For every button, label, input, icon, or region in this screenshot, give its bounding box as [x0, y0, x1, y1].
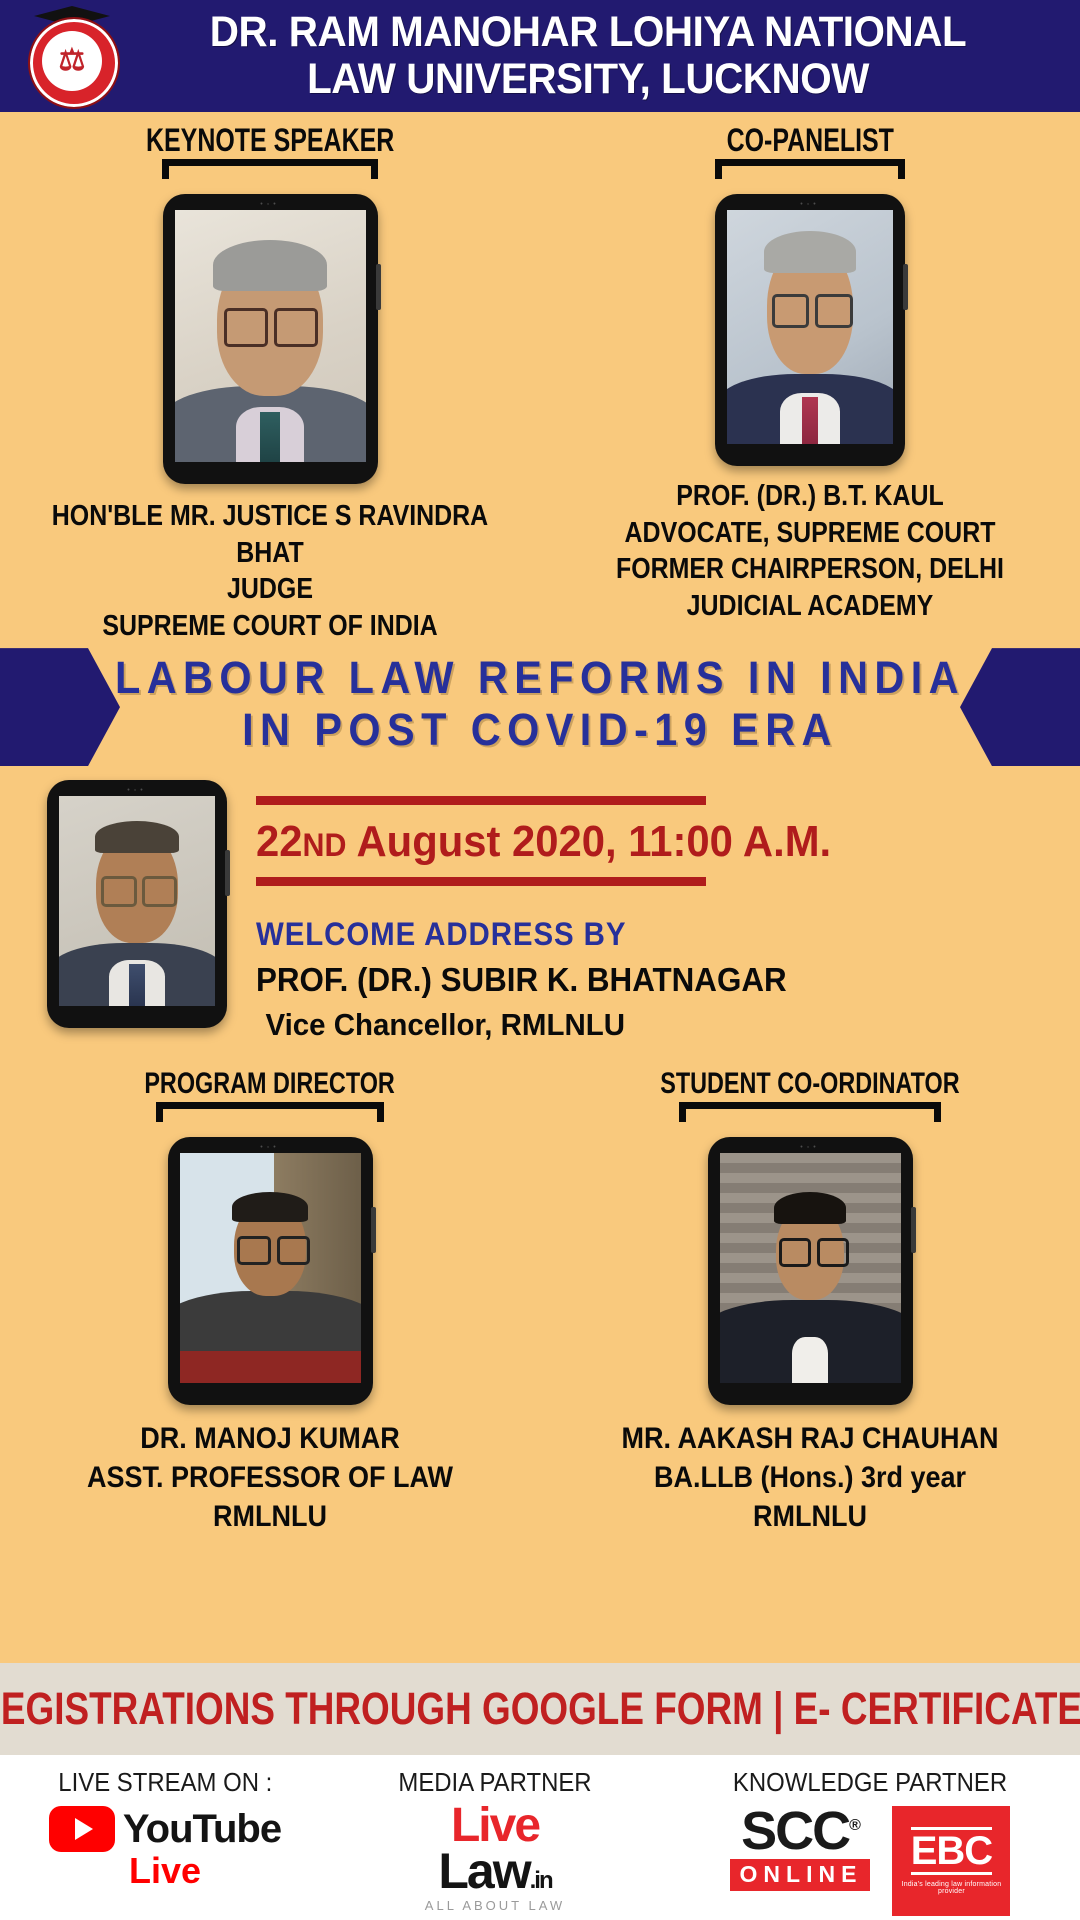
co-panelist-block: CO-PANELIST •▫• — [540, 124, 1080, 644]
registration-band: REGISTRATIONS THROUGH GOOGLE FORM | E- C… — [0, 1663, 1080, 1755]
bracket-underline — [679, 1102, 941, 1129]
live-stream-column: LIVE STREAM ON : YouTube Live — [40, 1767, 290, 1892]
speakers-row: KEYNOTE SPEAKER •▫• — [0, 112, 1080, 644]
co-panelist-role-wrap: CO-PANELIST — [540, 124, 1080, 186]
co-panelist-name-block: PROF. (DR.) B.T. KAUL ADVOCATE, SUPREME … — [540, 478, 1080, 624]
bracket-underline — [156, 1102, 384, 1129]
livelaw-tagline: ALL ABOUT LAW — [370, 1900, 620, 1912]
keynote-speaker-block: KEYNOTE SPEAKER •▫• — [0, 124, 540, 644]
university-name-line1: DR. RAM MANOHAR LOHIYA NATIONAL — [154, 11, 1023, 55]
event-date-ordinal: ND — [303, 827, 347, 863]
keynote-photo — [175, 210, 366, 462]
event-details-text: 22ND August 2020, 11:00 A.M. WELCOME ADD… — [250, 780, 1080, 1043]
youtube-wordmark: YouTube — [123, 1807, 281, 1852]
university-crest-icon: ⚖ — [18, 3, 126, 111]
keynote-speaker-line2: JUDGE — [38, 571, 502, 608]
scc-wordmark: SCC® — [730, 1806, 871, 1857]
co-panelist-photo — [727, 210, 893, 444]
program-director-photo — [180, 1153, 361, 1383]
scc-online-label: ONLINE — [730, 1859, 871, 1891]
event-date-number: 22 — [256, 817, 303, 866]
student-coordinator-block: STUDENT CO-ORDINATOR •▫• — [540, 1069, 1080, 1536]
co-panelist-name: PROF. (DR.) B.T. KAUL — [578, 478, 1042, 515]
event-title-line2: IN POST COVID-19 ERA — [43, 704, 1037, 756]
student-coordinator-line2: BA.LLB (Hons.) 3rd year — [567, 1458, 1053, 1497]
event-details-row: •▫• 22ND August 2 — [0, 766, 1080, 1043]
media-partner-caption: MEDIA PARTNER — [398, 1767, 591, 1798]
livelaw-logo: Live Law.in ALL ABOUT LAW — [370, 1804, 620, 1912]
program-director-name-block: DR. MANOJ KUMAR ASST. PROFESSOR OF LAW R… — [0, 1419, 540, 1536]
student-coordinator-name: MR. AAKASH RAJ CHAUHAN — [567, 1419, 1053, 1458]
vc-photo-frame: •▫• — [47, 780, 227, 1028]
welcome-address-label: WELCOME ADDRESS BY — [256, 916, 1014, 953]
youtube-play-icon — [49, 1806, 115, 1852]
event-title-line1: LABOUR LAW REFORMS IN INDIA — [43, 652, 1037, 704]
program-director-role-wrap: PROGRAM DIRECTOR — [0, 1069, 540, 1129]
livelaw-law-text: Law — [438, 1843, 529, 1899]
program-director-block: PROGRAM DIRECTOR •▫• — [0, 1069, 540, 1536]
event-datetime: 22ND August 2020, 11:00 A.M. — [256, 817, 1039, 867]
program-director-role-label: PROGRAM DIRECTOR — [145, 1069, 395, 1099]
university-name: DR. RAM MANOHAR LOHIYA NATIONAL LAW UNIV… — [126, 11, 1080, 102]
vc-photo — [59, 796, 215, 1006]
poster-footer: LIVE STREAM ON : YouTube Live MEDIA PART… — [0, 1755, 1080, 1920]
event-title: LABOUR LAW REFORMS IN INDIA IN POST COVI… — [0, 652, 1080, 756]
bracket-underline — [162, 159, 378, 186]
student-coordinator-name-block: MR. AAKASH RAJ CHAUHAN BA.LLB (Hons.) 3r… — [540, 1419, 1080, 1536]
co-panelist-role-label: CO-PANELIST — [726, 124, 893, 156]
media-partner-column: MEDIA PARTNER Live Law.in ALL ABOUT LAW — [370, 1767, 620, 1912]
scc-online-logo: SCC® ONLINE — [730, 1806, 871, 1891]
keynote-speaker-line3: SUPREME COURT OF INDIA — [38, 608, 502, 645]
co-panelist-line3: FORMER CHAIRPERSON, DELHI — [578, 551, 1042, 588]
ebc-logo: EBC India's leading law information prov… — [892, 1806, 1010, 1916]
keynote-speaker-name: HON'BLE MR. JUSTICE S RAVINDRA BHAT — [38, 498, 502, 571]
student-coordinator-photo — [720, 1153, 901, 1383]
livelaw-live-word: Live — [370, 1804, 620, 1848]
co-panelist-photo-frame: •▫• — [715, 194, 905, 466]
ebc-wordmark: EBC — [911, 1827, 992, 1875]
program-director-line2: ASST. PROFESSOR OF LAW — [27, 1458, 513, 1497]
organisers-row: PROGRAM DIRECTOR •▫• — [0, 1043, 1080, 1536]
live-stream-caption: LIVE STREAM ON : — [58, 1767, 272, 1798]
livelaw-tld: .in — [530, 1867, 552, 1894]
ebc-tagline: India's leading law information provider — [892, 1881, 1010, 1895]
rule-top — [256, 796, 706, 805]
event-title-banner: LABOUR LAW REFORMS IN INDIA IN POST COVI… — [0, 648, 1080, 766]
rule-bottom — [256, 877, 706, 886]
event-poster: ⚖ DR. RAM MANOHAR LOHIYA NATIONAL LAW UN… — [0, 0, 1080, 1920]
knowledge-partner-logos: SCC® ONLINE EBC India's leading law info… — [700, 1806, 1040, 1916]
keynote-photo-frame: •▫• — [163, 194, 378, 484]
registered-trademark-icon: ® — [849, 1817, 859, 1834]
co-panelist-line2: ADVOCATE, SUPREME COURT — [578, 515, 1042, 552]
youtube-logo: YouTube — [40, 1806, 290, 1852]
keynote-role-label: KEYNOTE SPEAKER — [146, 124, 394, 156]
registration-band-text: REGISTRATIONS THROUGH GOOGLE FORM | E- C… — [0, 1683, 1080, 1735]
student-coordinator-line3: RMLNLU — [567, 1497, 1053, 1536]
welcome-address-name: PROF. (DR.) SUBIR K. BHATNAGAR — [256, 961, 1039, 999]
vc-photo-column: •▫• — [0, 780, 250, 1043]
program-director-line3: RMLNLU — [27, 1497, 513, 1536]
co-panelist-line4: JUDICIAL ACADEMY — [578, 588, 1042, 625]
program-director-name: DR. MANOJ KUMAR — [27, 1419, 513, 1458]
youtube-live-label: Live — [40, 1850, 290, 1892]
poster-header: ⚖ DR. RAM MANOHAR LOHIYA NATIONAL LAW UN… — [0, 0, 1080, 112]
event-date-rest: August 2020, 11:00 A.M. — [346, 817, 831, 866]
program-director-photo-frame: •▫• — [168, 1137, 373, 1405]
student-coordinator-role-label: STUDENT CO-ORDINATOR — [660, 1069, 959, 1099]
livelaw-law-word: Law.in — [370, 1848, 620, 1894]
scc-text: SCC — [741, 1801, 849, 1861]
welcome-address-designation: Vice Chancellor, RMLNLU — [256, 1007, 1039, 1043]
keynote-speaker-name-block: HON'BLE MR. JUSTICE S RAVINDRA BHAT JUDG… — [0, 498, 540, 644]
knowledge-partner-caption: KNOWLEDGE PARTNER — [733, 1767, 1007, 1798]
university-name-line2: LAW UNIVERSITY, LUCKNOW — [154, 58, 1023, 102]
knowledge-partner-column: KNOWLEDGE PARTNER SCC® ONLINE EBC India'… — [700, 1767, 1040, 1916]
student-coordinator-photo-frame: •▫• — [708, 1137, 913, 1405]
student-coordinator-role-wrap: STUDENT CO-ORDINATOR — [540, 1069, 1080, 1129]
keynote-role-wrap: KEYNOTE SPEAKER — [0, 124, 540, 186]
bracket-underline — [715, 159, 905, 186]
